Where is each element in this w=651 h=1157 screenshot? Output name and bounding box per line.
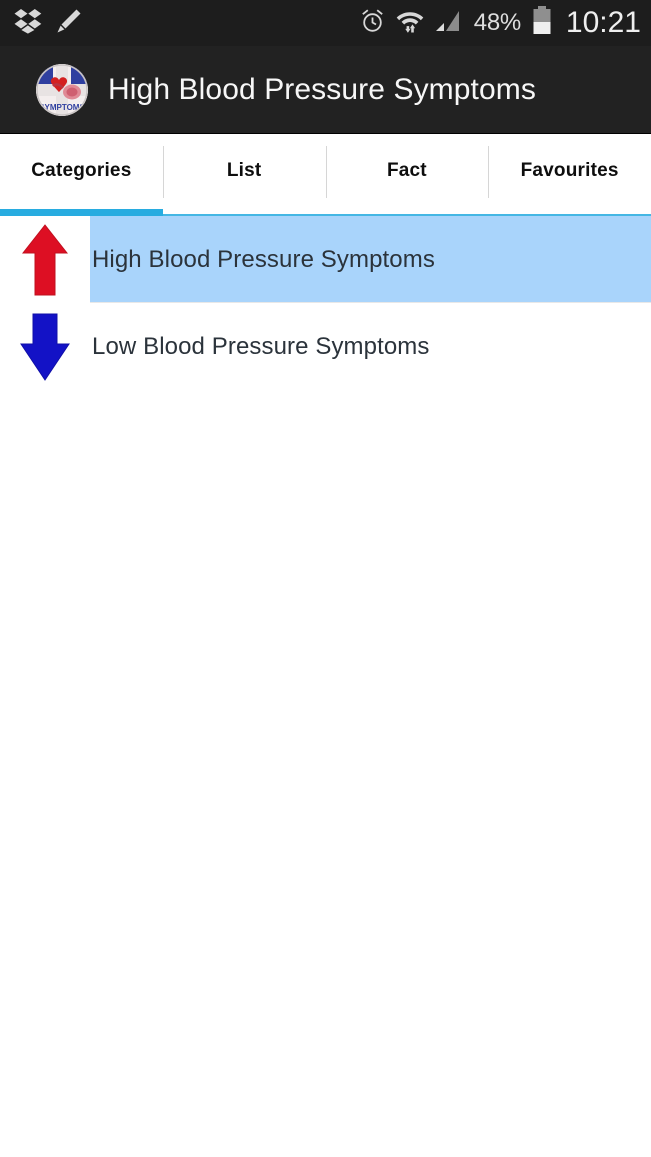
status-bar: 48% 10:21 xyxy=(0,0,651,46)
page-title: High Blood Pressure Symptoms xyxy=(108,73,536,107)
list-item-body: Low Blood Pressure Symptoms xyxy=(90,303,651,390)
empty-content-area xyxy=(0,390,651,1147)
arrow-up-icon xyxy=(0,216,90,303)
list-item-low-blood-pressure[interactable]: Low Blood Pressure Symptoms xyxy=(0,303,651,390)
tab-label: List xyxy=(227,160,262,182)
cellular-signal-icon xyxy=(435,8,463,39)
list-item-label: High Blood Pressure Symptoms xyxy=(92,246,435,274)
tab-label: Categories xyxy=(31,160,131,182)
tab-bar: Categories List Fact Favourites xyxy=(0,134,651,216)
arrow-down-icon xyxy=(0,303,90,390)
tab-favourites[interactable]: Favourites xyxy=(488,134,651,216)
tab-categories[interactable]: Categories xyxy=(0,134,163,216)
category-list: High Blood Pressure Symptoms Low Blood P… xyxy=(0,216,651,390)
list-item-label: Low Blood Pressure Symptoms xyxy=(92,333,430,361)
dropbox-icon xyxy=(14,8,42,39)
battery-icon xyxy=(532,6,552,41)
tab-label: Favourites xyxy=(521,160,619,182)
list-item-high-blood-pressure[interactable]: High Blood Pressure Symptoms xyxy=(0,216,651,303)
battery-percent-label: 48% xyxy=(474,9,521,37)
app-bar: SYMPTOMS High Blood Pressure Symptoms xyxy=(0,46,651,134)
status-bar-right-icons: 48% 10:21 xyxy=(360,6,641,41)
tab-fact[interactable]: Fact xyxy=(326,134,489,216)
status-bar-clock: 10:21 xyxy=(566,8,641,38)
wifi-icon xyxy=(396,8,424,39)
tab-label: Fact xyxy=(387,160,427,182)
pencil-icon xyxy=(56,8,82,39)
list-item-body: High Blood Pressure Symptoms xyxy=(90,216,651,303)
status-bar-left-icons xyxy=(14,8,82,39)
svg-text:SYMPTOMS: SYMPTOMS xyxy=(39,103,85,112)
app-logo-icon: SYMPTOMS xyxy=(36,64,88,116)
tab-active-indicator xyxy=(0,209,163,216)
tab-list[interactable]: List xyxy=(163,134,326,216)
alarm-clock-icon xyxy=(360,8,385,39)
